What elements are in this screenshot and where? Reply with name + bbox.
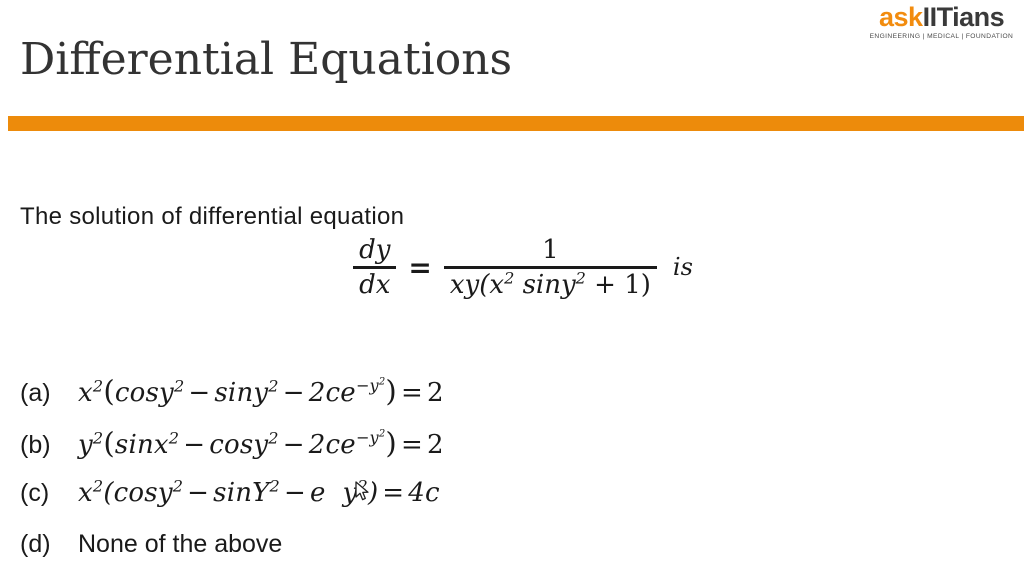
opt-b-term3-exp-text: −y (356, 428, 379, 447)
opt-a-term3-exp: −y2 (356, 376, 386, 395)
brand-logo: askIITians ENGINEERING | MEDICAL | FOUND… (871, 4, 1012, 41)
rhs-den-mid: siny (514, 270, 575, 300)
brand-word-iitians: IITians (923, 2, 1005, 32)
main-equation: dy dx = 1 xy(x2 siny2 + 1) is (0, 234, 1024, 301)
opt-b-base: y (78, 430, 93, 460)
opt-a-term2-exp: 2 (268, 376, 278, 395)
opt-a-op1: − (188, 378, 210, 408)
equation-trailing-word: is (673, 253, 693, 281)
opt-c-base-exp: 2 (93, 476, 103, 495)
opt-b-term2-exp: 2 (268, 428, 278, 447)
derivative-numerator: dy (353, 234, 396, 266)
rhs-den-pre: xy(x (450, 270, 504, 300)
rhs-fraction: 1 xy(x2 siny2 + 1) (444, 234, 657, 301)
opt-c-term3-tail-exp: 2 (357, 476, 367, 495)
opt-b-open-paren: ( (103, 426, 115, 460)
opt-b-term3: 2ce (309, 430, 356, 460)
opt-b-op1: − (183, 430, 205, 460)
option-a-label: (a) (20, 379, 78, 408)
page-title: Differential Equations (20, 34, 512, 85)
rhs-denominator: xy(x2 siny2 + 1) (444, 269, 657, 301)
opt-b-term1-exp: 2 (169, 428, 179, 447)
rhs-den-exp2: 2 (576, 268, 586, 287)
opt-c-term1: cosy (114, 478, 173, 508)
equation-relation-sign: = (408, 251, 431, 284)
brand-wordmark: askIITians (871, 4, 1012, 31)
title-accent-rule (8, 116, 1024, 131)
question-stem: The solution of differential equation (20, 203, 404, 231)
option-c-expression: x2(cosy2−sinY2−ey2)=4c (78, 478, 440, 508)
rhs-den-post: + 1) (586, 270, 651, 300)
opt-b-op2: − (283, 430, 305, 460)
opt-a-close-paren: ) (385, 374, 397, 408)
rhs-den-exp1: 2 (504, 268, 514, 287)
option-d-text: None of the above (78, 530, 282, 559)
derivative-fraction: dy dx (353, 234, 396, 301)
opt-c-relation: = (382, 478, 404, 508)
opt-b-term3-exp: −y2 (356, 428, 386, 447)
option-a[interactable]: (a) x2(cosy2−siny2−2ce−y2)=2 (20, 374, 980, 426)
opt-a-term2: siny (214, 378, 268, 408)
opt-c-term2: sinY (213, 478, 269, 508)
options-list: (a) x2(cosy2−siny2−2ce−y2)=2 (b) y2(sinx… (20, 374, 980, 582)
equation-inner: dy dx = 1 xy(x2 siny2 + 1) is (349, 234, 693, 301)
opt-c-term2-exp: 2 (270, 476, 280, 495)
opt-a-open-paren: ( (103, 374, 115, 408)
opt-a-term1: cosy (115, 378, 174, 408)
opt-c-term3: e (310, 478, 326, 508)
opt-c-result: 4c (408, 478, 440, 508)
option-c-label: (c) (20, 479, 78, 508)
rhs-numerator: 1 (536, 234, 565, 266)
option-c[interactable]: (c) x2(cosy2−sinY2−ey2)=4c (20, 478, 980, 530)
opt-a-relation: = (401, 378, 423, 408)
opt-a-term3-exp-text: −y (356, 376, 379, 395)
opt-a-result: 2 (427, 378, 444, 408)
opt-c-term1-exp: 2 (173, 476, 183, 495)
derivative-denominator: dx (353, 269, 396, 301)
opt-b-close-paren: ) (385, 426, 397, 460)
option-d[interactable]: (d) None of the above (20, 530, 980, 582)
opt-a-term1-exp: 2 (174, 376, 184, 395)
opt-a-base: x (78, 378, 93, 408)
brand-word-ask: ask (879, 2, 923, 32)
opt-c-op1: − (187, 478, 209, 508)
opt-b-base-exp: 2 (93, 428, 103, 447)
opt-c-op2: − (284, 478, 306, 508)
option-a-expression: x2(cosy2−siny2−2ce−y2)=2 (78, 374, 444, 408)
opt-c-base: x (78, 478, 93, 508)
opt-b-relation: = (401, 430, 423, 460)
option-b[interactable]: (b) y2(sinx2−cosy2−2ce−y2)=2 (20, 426, 980, 478)
option-b-label: (b) (20, 431, 78, 460)
opt-a-term3: 2ce (309, 378, 356, 408)
opt-c-term3-tail: y (343, 478, 358, 508)
opt-b-term2: cosy (209, 430, 268, 460)
opt-b-term1: sinx (115, 430, 169, 460)
option-d-label: (d) (20, 530, 78, 559)
opt-a-base-exp: 2 (93, 376, 103, 395)
slide-header: askIITians ENGINEERING | MEDICAL | FOUND… (0, 0, 1024, 136)
opt-b-result: 2 (427, 430, 444, 460)
option-b-expression: y2(sinx2−cosy2−2ce−y2)=2 (78, 426, 444, 460)
opt-c-open-paren: ( (103, 478, 113, 508)
opt-c-close-paren: ) (368, 478, 378, 508)
opt-a-op2: − (283, 378, 305, 408)
brand-tagline: ENGINEERING | MEDICAL | FOUNDATION (870, 34, 1014, 41)
